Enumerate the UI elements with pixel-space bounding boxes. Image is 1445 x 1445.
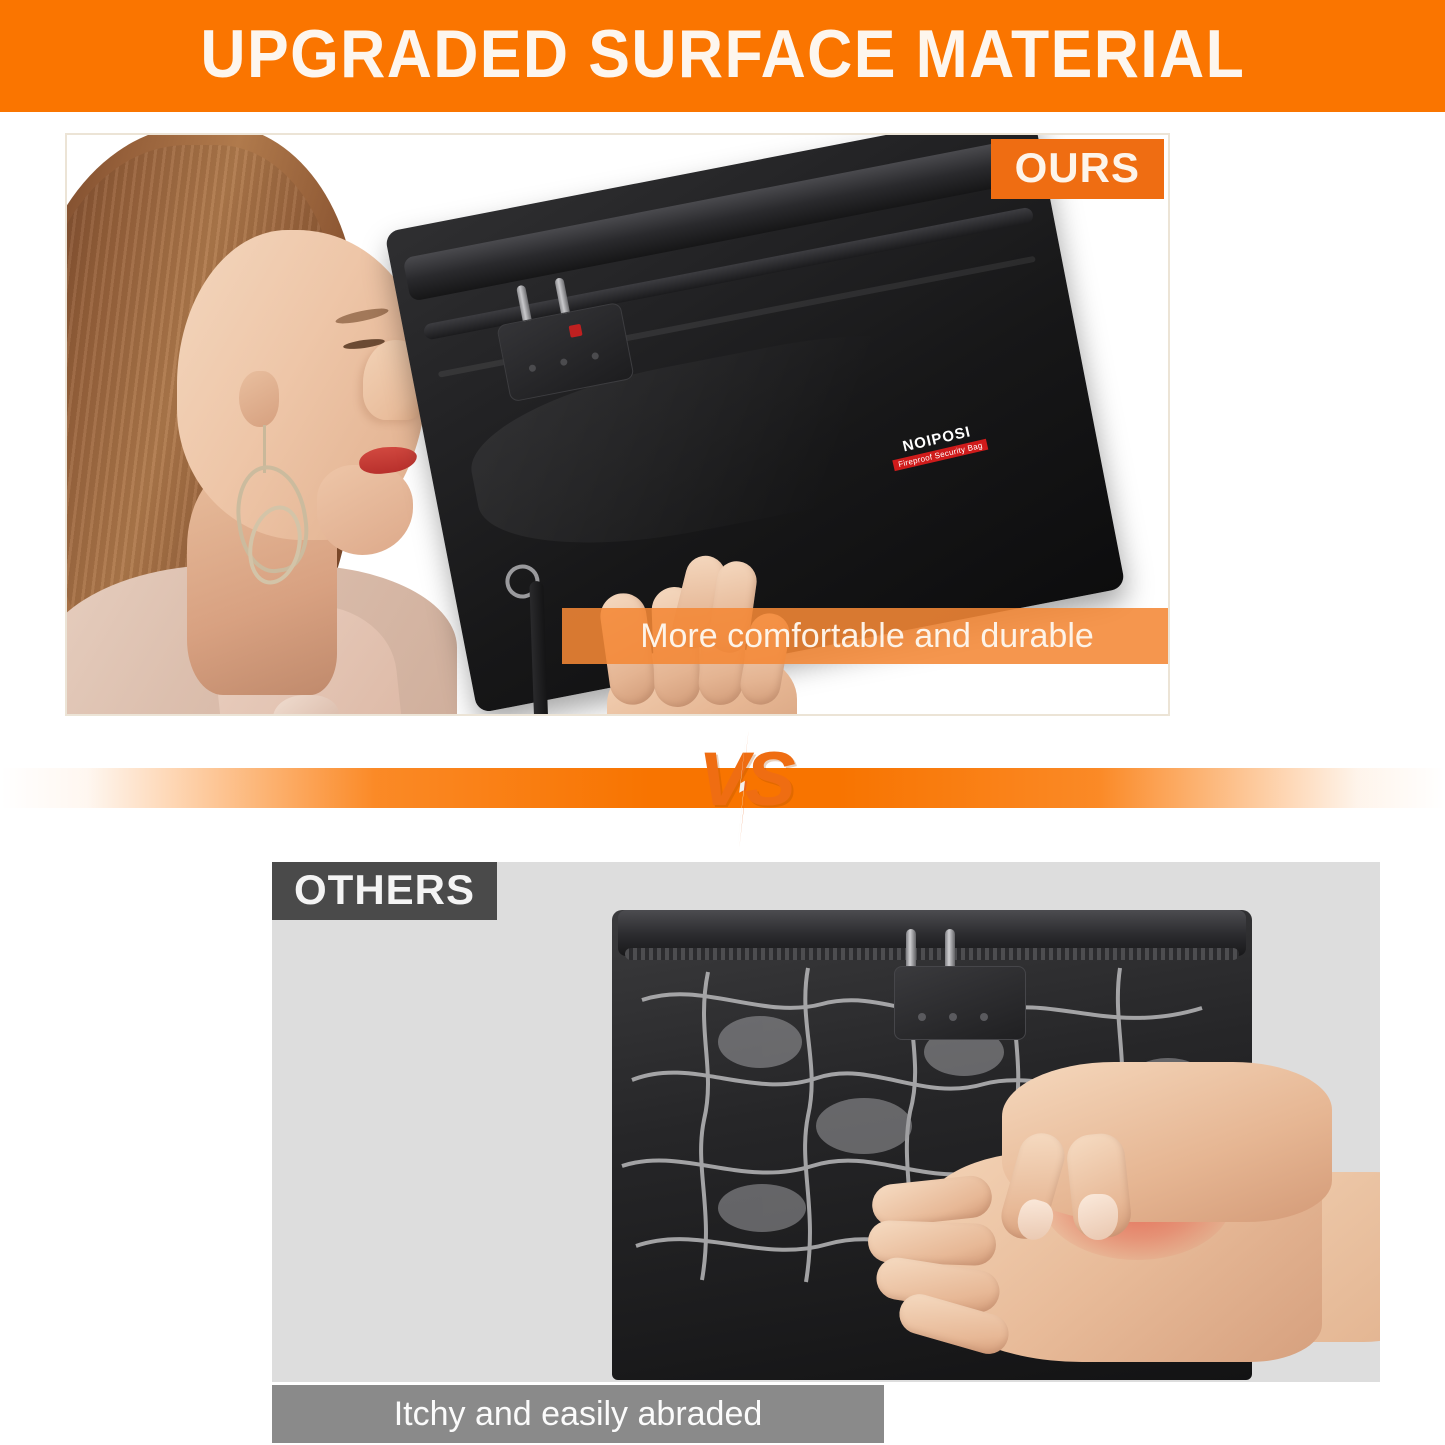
lock-indicator-red — [568, 324, 582, 338]
others-bag-zipper — [625, 948, 1239, 960]
product-comparison-infographic: UPGRADED SURFACE MATERIAL — [0, 0, 1445, 1445]
others-badge-label: OTHERS — [294, 866, 475, 913]
others-lock-dial-2 — [949, 1013, 957, 1021]
lock-dial-3 — [591, 352, 599, 360]
page-title: UPGRADED SURFACE MATERIAL — [200, 20, 1245, 92]
ear-shape — [239, 371, 279, 427]
ours-caption-text: More comfortable and durable — [640, 619, 1094, 653]
vs-emblem: VS — [690, 734, 800, 844]
others-badge: OTHERS — [272, 862, 497, 920]
ours-caption-bar: More comfortable and durable — [562, 608, 1170, 664]
chin-shape — [317, 465, 413, 555]
others-panel — [272, 862, 1380, 1382]
ours-badge-label: OURS — [1015, 144, 1140, 191]
vs-label: VS — [690, 742, 800, 818]
others-tsa-lock — [894, 966, 1026, 1040]
scratching-hands-illustration — [882, 1072, 1380, 1382]
lock-dial-1 — [528, 364, 536, 372]
header-banner: UPGRADED SURFACE MATERIAL — [0, 0, 1445, 112]
fingernail-thumb — [1078, 1194, 1118, 1240]
others-lock-dial-1 — [918, 1013, 926, 1021]
ours-badge: OURS — [991, 139, 1164, 199]
others-caption-bar: Itchy and easily abraded — [272, 1385, 884, 1443]
ours-panel: NOIPOSI Fireproof Security Bag More comf… — [65, 133, 1170, 716]
others-caption-text: Itchy and easily abraded — [394, 1397, 763, 1431]
others-lock-dial-3 — [980, 1013, 988, 1021]
lock-dial-2 — [560, 358, 568, 366]
